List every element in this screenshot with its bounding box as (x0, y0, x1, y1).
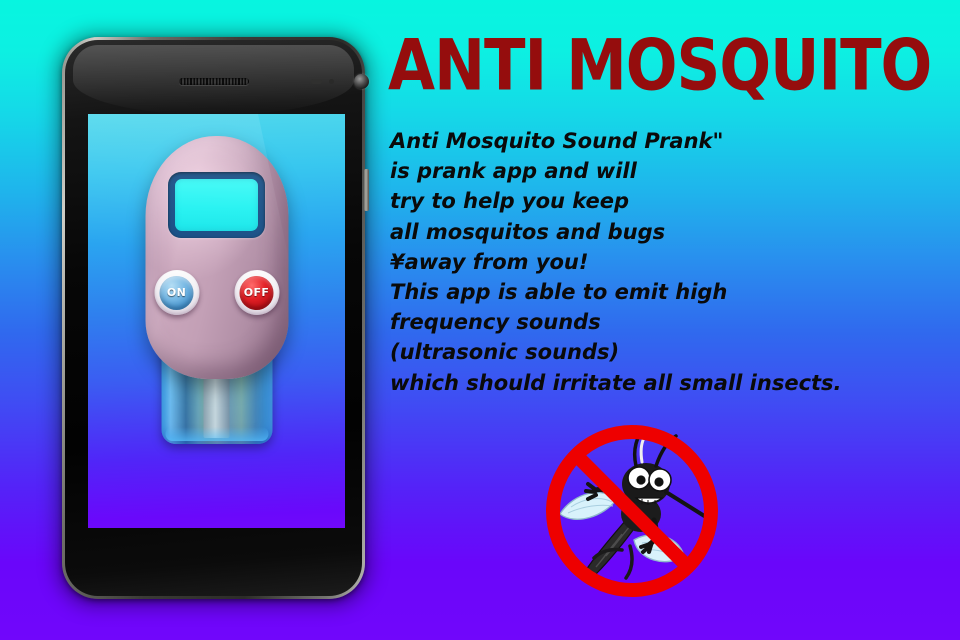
on-button[interactable]: ON (154, 270, 199, 315)
description-line: (ultrasonic sounds) (390, 337, 930, 367)
no-mosquito-prohibition-sign (538, 422, 726, 600)
device-lcd-screen (175, 179, 258, 231)
earpiece-speaker-grill-icon (179, 78, 249, 85)
repellent-device-body: ON OFF (145, 136, 288, 379)
phone-body: ON OFF (65, 40, 362, 596)
ambient-light-sensor-icon (329, 79, 334, 84)
promo-banner: ON OFF ANTI MOSQUITO Anti Mosquito Sound… (0, 0, 960, 640)
description-line: ¥away from you! (390, 247, 930, 277)
on-button-label: ON (160, 276, 194, 310)
front-camera-icon (354, 74, 369, 89)
description-line: which should irritate all small insects. (390, 368, 930, 398)
description-line: all mosquitos and bugs (390, 217, 930, 247)
bottle-bottom-highlight (165, 427, 268, 441)
description-line: This app is able to emit high (390, 277, 930, 307)
description-line: try to help you keep (390, 186, 930, 216)
power-button[interactable] (364, 169, 369, 211)
description-line: is prank app and will (390, 156, 930, 186)
description-line: frequency sounds (390, 307, 930, 337)
description-line: Anti Mosquito Sound Prank" (390, 126, 930, 156)
off-button[interactable]: OFF (234, 270, 279, 315)
phone-mockup: ON OFF (62, 37, 365, 599)
page-title: ANTI MOSQUITO (388, 26, 931, 104)
device-button-row: ON OFF (145, 270, 288, 315)
description-text: Anti Mosquito Sound Prank" is prank app … (390, 126, 930, 398)
proximity-sensor-icon (311, 79, 322, 84)
mosquito-repellent-device: ON OFF (133, 136, 301, 506)
off-button-label: OFF (240, 276, 274, 310)
phone-screen[interactable]: ON OFF (88, 114, 345, 528)
device-lcd-display (168, 172, 265, 238)
